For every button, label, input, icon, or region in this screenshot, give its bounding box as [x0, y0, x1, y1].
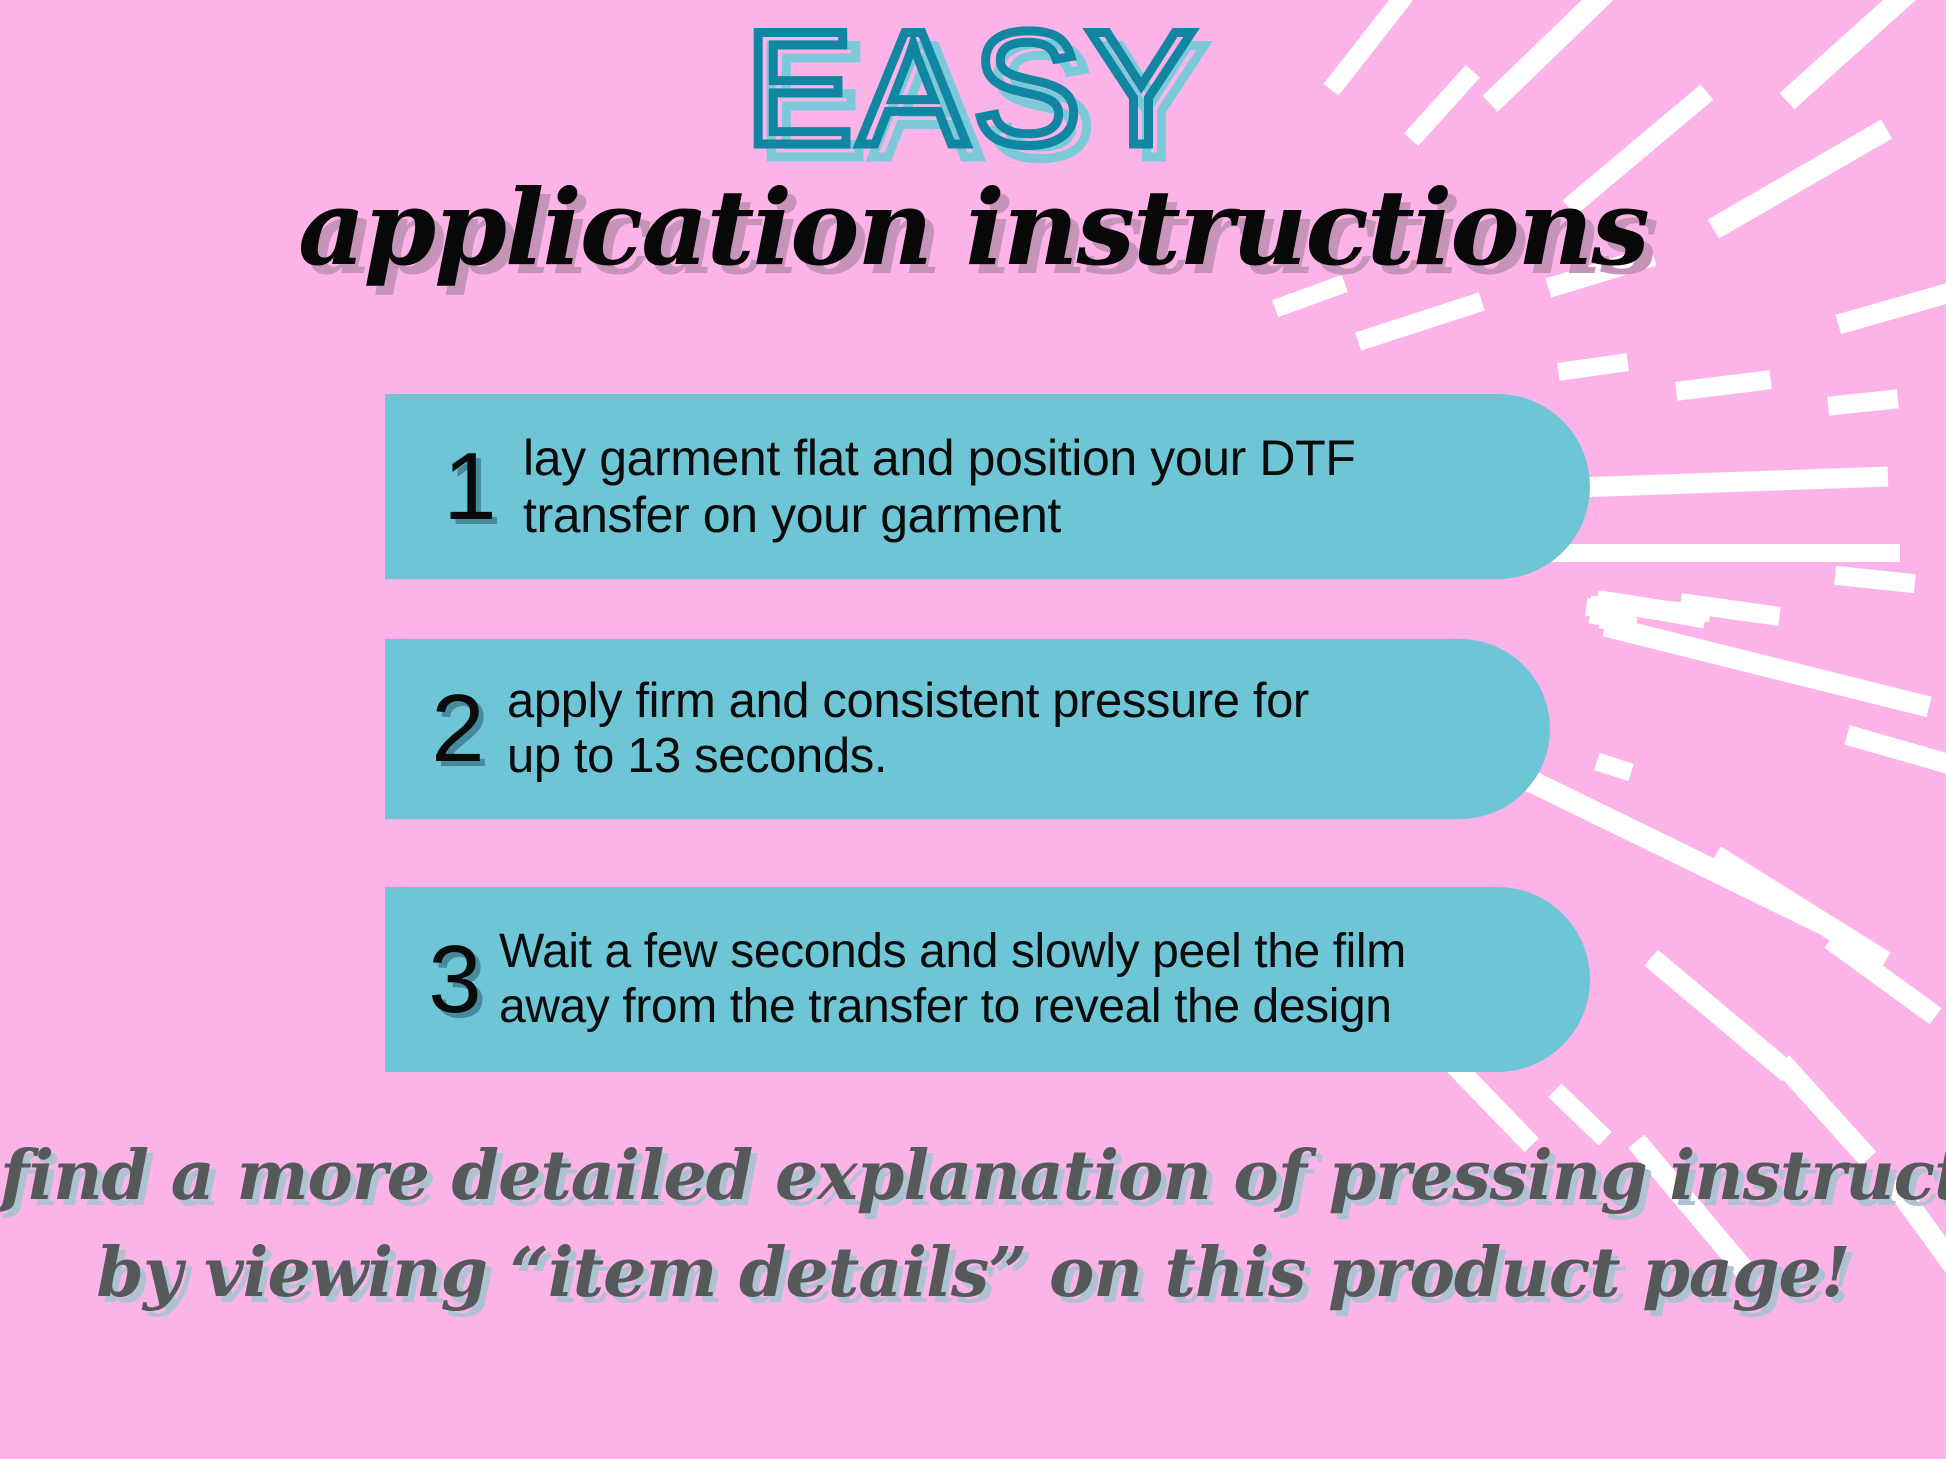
step-text-3: Wait a few seconds and slowly peel the f… — [499, 925, 1590, 1033]
headline-text: EASY — [745, 8, 1201, 170]
sunburst-ray — [1590, 596, 1711, 622]
sunburst-ray — [1578, 467, 1889, 498]
subtitle-text: application instructions — [298, 166, 1648, 289]
sunburst-ray — [1589, 606, 1622, 629]
sunburst-ray — [1602, 616, 1931, 717]
sunburst-ray — [1825, 932, 1942, 1025]
sunburst-ray — [1595, 602, 1628, 625]
sunburst-ray — [1512, 765, 1827, 934]
step-number-1: 1 — [427, 439, 513, 535]
footer-line-2: by viewing “item details” on this produc… — [0, 1225, 1946, 1322]
sunburst-ray — [1679, 593, 1781, 626]
step-text-line: away from the transfer to reveal the des… — [499, 980, 1590, 1034]
footer-note: find a more detailed explanation of pres… — [0, 1128, 1946, 1321]
step-text-line: lay garment flat and position your DTF — [523, 430, 1590, 487]
sunburst-ray — [1594, 753, 1634, 781]
sunburst-ray — [1595, 595, 1632, 619]
sunburst-ray — [1836, 282, 1946, 334]
headline: EASY — [0, 8, 1946, 170]
step-text-2: apply firm and consistent pressure for u… — [507, 674, 1550, 785]
step-text-line: apply firm and consistent pressure for — [507, 674, 1550, 729]
step-number-2: 2 — [415, 681, 501, 777]
footer-line-1: find a more detailed explanation of pres… — [0, 1128, 1946, 1225]
step-text-line: Wait a few seconds and slowly peel the f… — [499, 925, 1590, 979]
step-text-line: up to 13 seconds. — [507, 729, 1550, 784]
sunburst-ray — [1355, 292, 1485, 350]
sunburst-ray — [1557, 353, 1629, 381]
sunburst-ray — [1675, 370, 1772, 400]
subtitle: application instructions — [0, 176, 1946, 280]
sunburst-ray — [1599, 591, 1697, 625]
step-text-1: lay garment flat and position your DTF t… — [523, 430, 1590, 543]
step-number-3: 3 — [415, 932, 495, 1028]
step-card-2: 2 apply firm and consistent pressure for… — [385, 639, 1550, 819]
poster-canvas: EASY EASY application instructions 1 lay… — [0, 0, 1946, 1459]
sunburst-ray — [1844, 725, 1946, 775]
sunburst-ray — [1644, 950, 1795, 1082]
step-text-line: transfer on your garment — [523, 487, 1590, 544]
sunburst-ray — [1827, 389, 1899, 415]
step-card-1: 1 lay garment flat and position your DTF… — [385, 394, 1590, 579]
sunburst-ray — [1595, 591, 1707, 629]
step-card-3: 3 Wait a few seconds and slowly peel the… — [385, 887, 1590, 1072]
sunburst-ray — [1585, 598, 1627, 620]
sunburst-ray — [1599, 610, 1638, 635]
sunburst-ray — [1709, 847, 1890, 972]
sunburst-ray — [1834, 566, 1916, 593]
